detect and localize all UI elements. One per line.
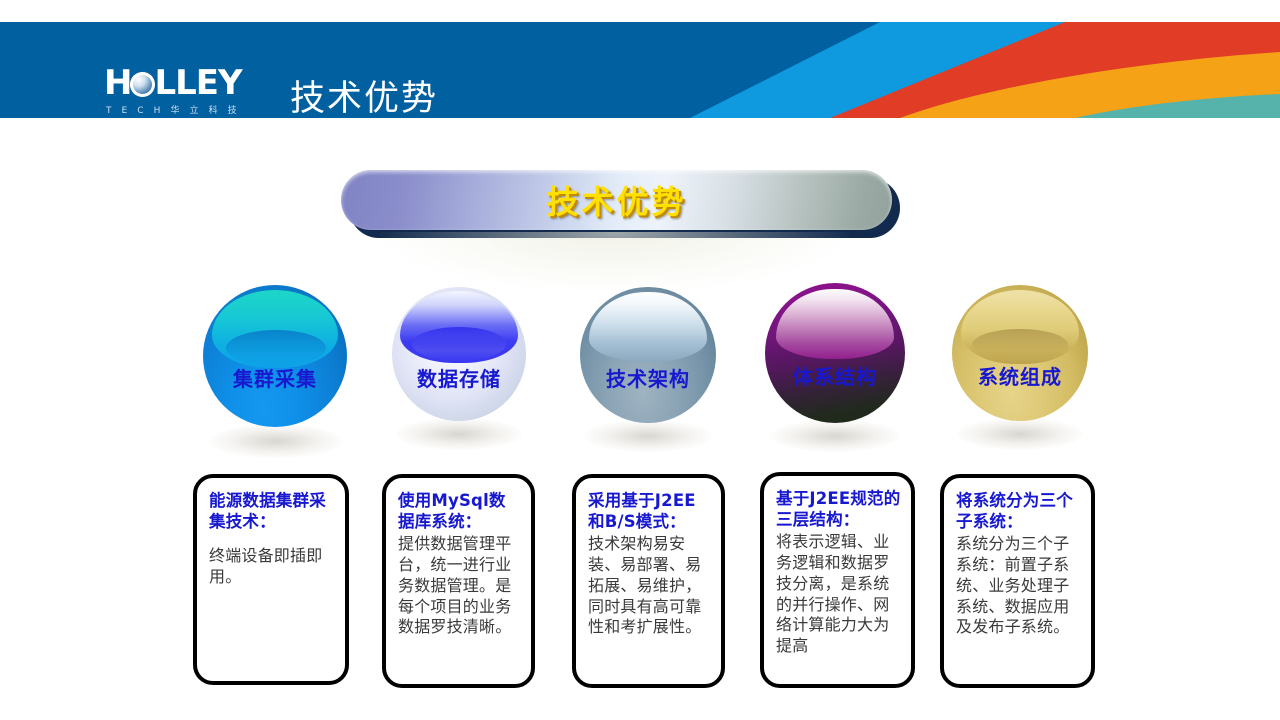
sphere-shadow-2 (396, 418, 522, 450)
holley-logo: HLLEY T E C H 华 立 科 技 (104, 67, 262, 115)
sphere-label-5: 系统组成 (952, 361, 1088, 390)
header-title: 技术优势 (290, 70, 438, 118)
card-heading-2: 使用MySql数据库系统： (398, 490, 521, 532)
card-body-4: 将表示逻辑、业务逻辑和数据罗技分离，是系统的并行操作、网络计算能力大为提高 (776, 532, 901, 657)
slide-canvas: HLLEY T E C H 华 立 科 技 技术优势 技术优势 集群采集 数据存… (0, 0, 1280, 720)
card-heading-1: 能源数据集群采集技术： (209, 490, 335, 532)
sphere-cluster-collection[interactable]: 集群采集 (203, 285, 347, 427)
info-card-2[interactable]: 使用MySql数据库系统： 提供数据管理平台，统一进行业务数据管理。是每个项目的… (382, 474, 535, 688)
sphere-highlight-cap (776, 289, 894, 359)
sphere-data-storage[interactable]: 数据存储 (392, 287, 526, 421)
info-card-3[interactable]: 采用基于J2EE和B/S模式： 技术架构易安装、易部署、易拓展、易维护，同时具有… (572, 474, 725, 688)
sphere-system-composition[interactable]: 系统组成 (952, 285, 1088, 421)
sphere-label-3: 技术架构 (580, 363, 716, 392)
sphere-inner-shade (226, 330, 326, 366)
card-body-2: 提供数据管理平台，统一进行业务数据管理。是每个项目的业务数据罗技清晰。 (398, 534, 521, 638)
sphere-inner-shade (972, 329, 1068, 361)
card-body-3: 技术架构易安装、易部署、易拓展、易维护，同时具有高可靠性和考扩展性。 (588, 534, 711, 638)
info-card-5[interactable]: 将系统分为三个子系统： 系统分为三个子系统：前置子系统、业务处理子系统、数据应用… (940, 474, 1095, 688)
logo-wordmark: HLLEY (104, 67, 262, 100)
sphere-shadow-5 (957, 418, 1083, 450)
logo-subtitle: T E C H 华 立 科 技 (106, 103, 262, 116)
section-title-banner: 技术优势 (341, 170, 892, 230)
banner-reflection-glow (380, 232, 850, 292)
sphere-inner-shade (412, 327, 506, 361)
sphere-shadow-4 (770, 420, 900, 452)
sphere-shadow-3 (585, 420, 711, 452)
slide-header: HLLEY T E C H 华 立 科 技 技术优势 (0, 22, 1280, 118)
logo-o-sphere-icon (130, 72, 155, 97)
logo-letter-h: H (104, 63, 131, 103)
logo-letters-lley: LLEY (154, 63, 241, 103)
sphere-label-2: 数据存储 (392, 363, 526, 392)
sphere-highlight-cap (589, 292, 707, 362)
sphere-label-1: 集群采集 (203, 363, 347, 392)
card-heading-3: 采用基于J2EE和B/S模式： (588, 490, 711, 532)
sphere-shadow-1 (210, 424, 342, 458)
card-body-5: 系统分为三个子系统：前置子系统、业务处理子系统、数据应用及发布子系统。 (956, 534, 1081, 638)
sphere-system-structure[interactable]: 体系结构 (765, 283, 905, 423)
sphere-label-4: 体系结构 (765, 361, 905, 390)
info-card-4[interactable]: 基于J2EE规范的三层结构： 将表示逻辑、业务逻辑和数据罗技分离，是系统的并行操… (760, 472, 915, 688)
card-body-1: 终端设备即插即用。 (209, 546, 335, 588)
info-card-1[interactable]: 能源数据集群采集技术： 终端设备即插即用。 (193, 474, 349, 685)
banner-title-text: 技术优势 (341, 170, 892, 230)
card-heading-5: 将系统分为三个子系统： (956, 490, 1081, 532)
card-heading-4: 基于J2EE规范的三层结构： (776, 488, 901, 530)
sphere-tech-architecture[interactable]: 技术架构 (580, 287, 716, 423)
